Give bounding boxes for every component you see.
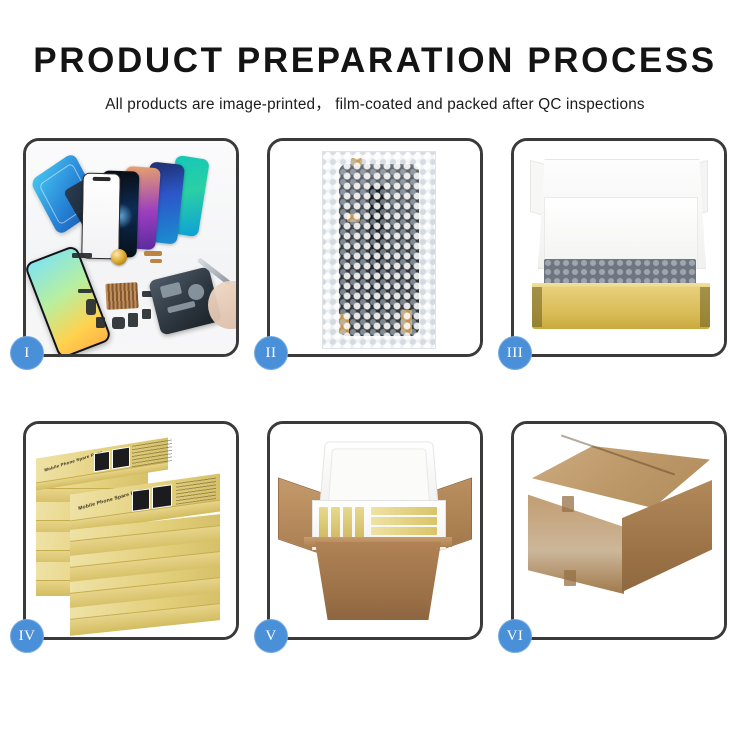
carton-tape-lower <box>564 570 576 586</box>
process-step-3: III <box>511 138 727 357</box>
step-badge-5: V <box>254 619 288 653</box>
carton-tape-upper <box>562 496 574 512</box>
step-badge-2: II <box>254 336 288 370</box>
part-bit-2 <box>78 289 92 293</box>
part-bit-6 <box>128 313 138 327</box>
product-preparation-infographic: PRODUCT PREPARATION PROCESS All products… <box>0 0 750 750</box>
carton-front <box>308 542 448 620</box>
step-badge-6: VI <box>498 619 532 653</box>
process-row-2: Mobile Phone Spare Parts Mobile Phone Sp… <box>0 421 750 640</box>
carton-left-face <box>528 486 624 594</box>
process-step-4: Mobile Phone Spare Parts Mobile Phone Sp… <box>23 421 239 640</box>
bubble-bag <box>322 151 436 349</box>
phone-fan-group <box>84 155 224 260</box>
process-grid: I II <box>0 138 750 704</box>
step-6-image <box>514 424 724 637</box>
process-step-2: II <box>267 138 483 357</box>
part-bit-7 <box>142 309 151 319</box>
header: PRODUCT PREPARATION PROCESS All products… <box>0 0 750 114</box>
phone-gradient-icon <box>26 244 112 354</box>
step-badge-4: IV <box>10 619 44 653</box>
box-base <box>532 287 710 329</box>
step-badge-1: I <box>10 336 44 370</box>
camera-lens-icon <box>111 249 127 265</box>
step-3-image <box>514 141 724 354</box>
part-bit-1 <box>72 253 92 258</box>
phone-white-front-icon <box>81 173 120 260</box>
box-stack: Mobile Phone Spare Parts Mobile Phone Sp… <box>32 436 230 626</box>
step-5-image <box>270 424 480 637</box>
step-badge-3: III <box>498 336 532 370</box>
step-2-image <box>270 141 480 354</box>
page-title: PRODUCT PREPARATION PROCESS <box>0 0 750 81</box>
part-bit-3 <box>86 299 96 315</box>
process-row-1: I II <box>0 138 750 357</box>
process-step-1: I <box>23 138 239 357</box>
part-bit-4 <box>96 317 105 328</box>
page-subtitle: All products are image-printed， film-coa… <box>0 81 750 114</box>
flex-cable-1 <box>144 251 162 256</box>
part-bit-5 <box>112 317 125 329</box>
bubble-texture-shadow <box>323 152 435 348</box>
step-4-image: Mobile Phone Spare Parts Mobile Phone Sp… <box>26 424 236 637</box>
flex-cable-2 <box>150 259 162 263</box>
step-1-image <box>26 141 236 354</box>
screw-tray-icon <box>105 282 138 310</box>
process-step-6: VI <box>511 421 727 640</box>
process-step-5: V <box>267 421 483 640</box>
